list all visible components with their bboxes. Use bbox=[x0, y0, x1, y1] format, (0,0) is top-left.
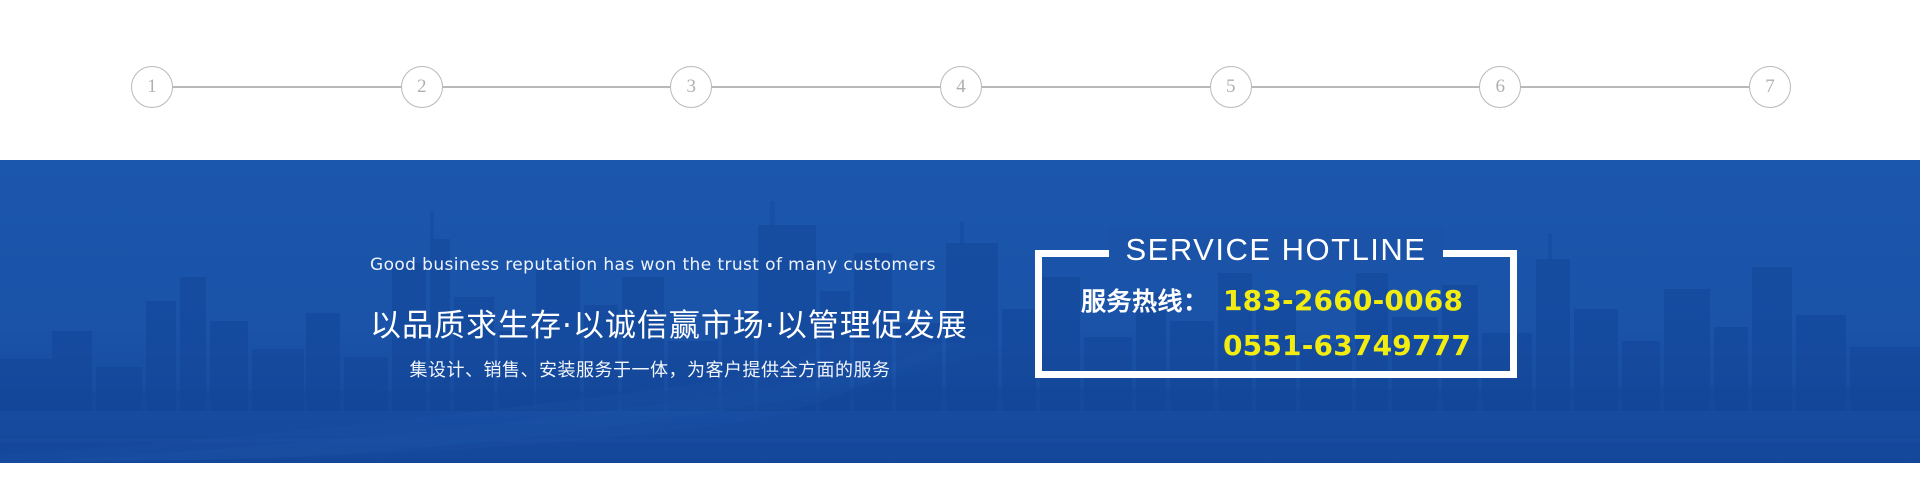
step-node-1[interactable]: 1 bbox=[131, 66, 173, 108]
hero-banner: Good business reputation has won the tru… bbox=[0, 160, 1920, 463]
stepper-band: 1 2 3 4 5 6 7 bbox=[0, 0, 1920, 160]
hotline-number-primary[interactable]: 183-2660-0068 bbox=[1223, 284, 1463, 317]
step-node-6[interactable]: 6 bbox=[1479, 66, 1521, 108]
road-foreground-image bbox=[0, 343, 1920, 463]
hotline-label: 服务热线： bbox=[1081, 282, 1223, 318]
step-node-7[interactable]: 7 bbox=[1749, 66, 1791, 108]
slogan-subtitle: 集设计、销售、安装服务于一体，为客户提供全方面的服务 bbox=[370, 356, 930, 382]
hotline-title: SERVICE HOTLINE bbox=[1109, 227, 1442, 273]
step-node-4[interactable]: 4 bbox=[940, 66, 982, 108]
step-node-5[interactable]: 5 bbox=[1210, 66, 1252, 108]
hotline-row: 服务热线： 183-2660-0068 bbox=[1035, 282, 1517, 327]
slogan-english: Good business reputation has won the tru… bbox=[370, 255, 930, 275]
hotline-title-wrap: SERVICE HOTLINE bbox=[1035, 227, 1517, 273]
page-root: 1 2 3 4 5 6 7 bbox=[0, 0, 1920, 500]
slogan-main-headline: 以品质求生存·以诚信赢市场·以管理促发展 bbox=[370, 300, 930, 345]
step-node-2[interactable]: 2 bbox=[401, 66, 443, 108]
hotline-rows: 服务热线： 183-2660-0068 服务热线： 0551-63749777 bbox=[1035, 282, 1517, 372]
step-node-3[interactable]: 3 bbox=[670, 66, 712, 108]
hotline-number-secondary[interactable]: 0551-63749777 bbox=[1223, 329, 1471, 362]
hotline-row: 服务热线： 0551-63749777 bbox=[1035, 327, 1517, 372]
